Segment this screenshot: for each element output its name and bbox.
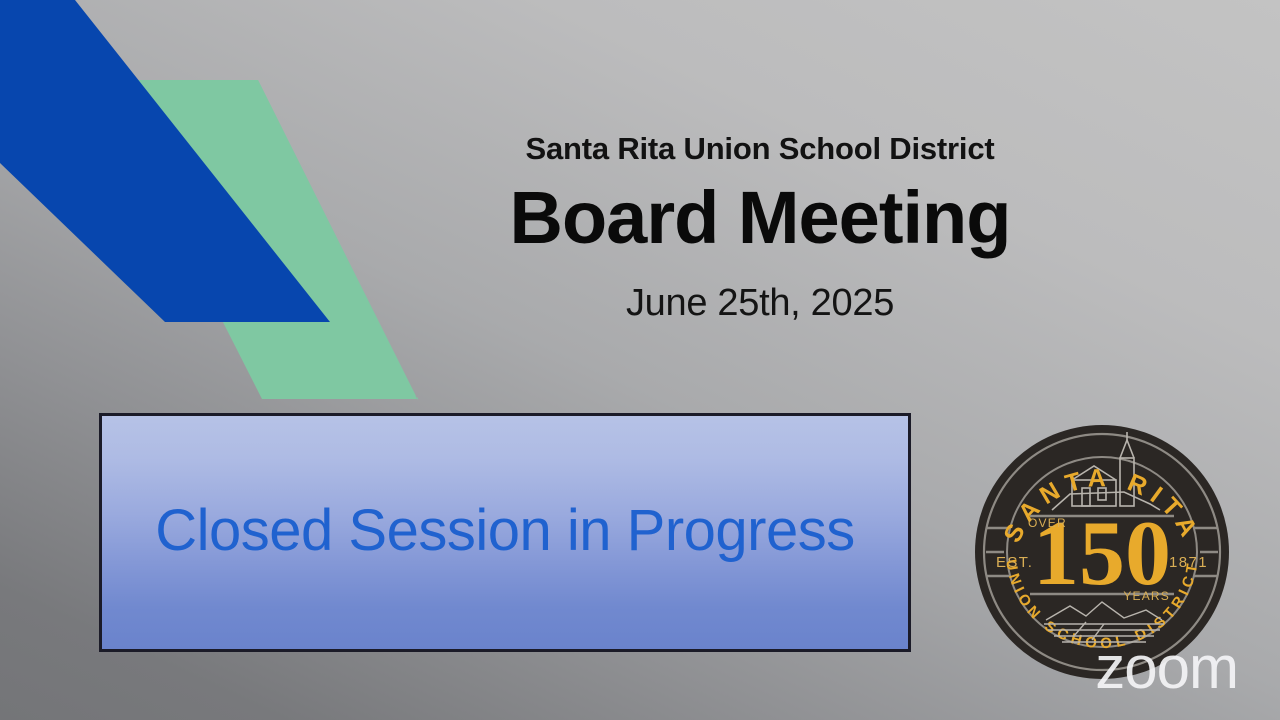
status-banner: Closed Session in Progress <box>99 413 911 652</box>
blue-ribbon-shape <box>0 0 330 322</box>
seal-years-label: YEARS <box>1123 589 1170 603</box>
status-banner-text: Closed Session in Progress <box>155 502 854 560</box>
seal-est-label: EST. <box>996 554 1033 571</box>
green-ribbon-shape-full <box>100 80 417 399</box>
decorative-ribbons <box>0 0 460 410</box>
zoom-watermark: zoom <box>1095 638 1238 698</box>
seal-year-label: 1871 <box>1169 554 1208 571</box>
page-title: Board Meeting <box>400 174 1120 261</box>
meeting-date: June 25th, 2025 <box>400 283 1120 325</box>
district-name: Santa Rita Union School District <box>400 132 1120 166</box>
seal-over-label: OVER <box>1028 516 1067 530</box>
zoom-meeting-waiting-screen: Santa Rita Union School District Board M… <box>0 0 1280 720</box>
meeting-heading-block: Santa Rita Union School District Board M… <box>400 132 1120 325</box>
green-ribbon-shape <box>100 80 418 400</box>
